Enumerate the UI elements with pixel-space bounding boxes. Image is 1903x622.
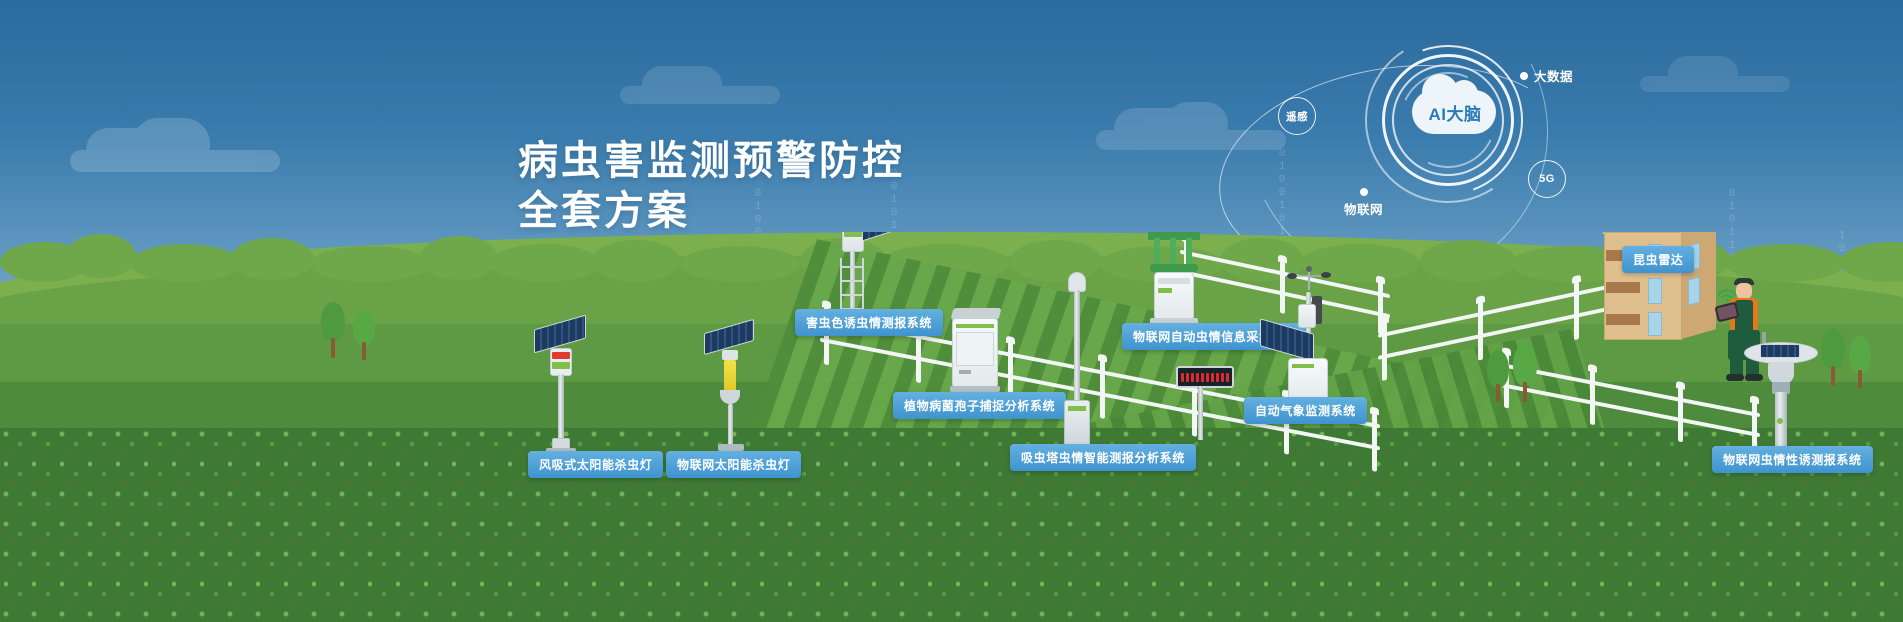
node-big-data-label: 大数据 bbox=[1534, 66, 1573, 85]
device-suction-tower bbox=[1058, 272, 1098, 462]
device-iot-sex-lure-unit bbox=[1744, 332, 1822, 462]
pest-monitoring-banner: 01001010011010 0100101101001 01001011010… bbox=[0, 0, 1903, 622]
wifi-signal-icon bbox=[1714, 280, 1740, 302]
label-weather-station[interactable]: 自动气象监测系统 bbox=[1244, 397, 1367, 424]
device-spore-capture bbox=[946, 308, 1008, 394]
led-display-board bbox=[1176, 366, 1234, 388]
node-iot[interactable]: 物联网 bbox=[1344, 188, 1383, 218]
label-iot-solar-lamp[interactable]: 物联网太阳能杀虫灯 bbox=[666, 451, 801, 478]
device-wind-solar-lamp bbox=[530, 322, 592, 458]
badge-remote-sensing[interactable]: 遥感 bbox=[1278, 97, 1316, 135]
led-board-pole bbox=[1198, 386, 1203, 440]
lamp-tube-icon bbox=[724, 360, 736, 392]
device-weather-station bbox=[1272, 270, 1350, 416]
tree-6 bbox=[1848, 336, 1872, 388]
headline-block: 病虫害监测预警防控 全套方案 bbox=[518, 136, 905, 236]
anemometer-icon bbox=[1286, 266, 1332, 292]
headline-line-1: 病虫害监测预警防控 bbox=[518, 136, 905, 186]
device-iot-solar-lamp bbox=[700, 326, 762, 458]
ground-scene: 昆虫雷达 bbox=[0, 232, 1903, 622]
label-spore-capture[interactable]: 植物病菌孢子捕捉分析系统 bbox=[893, 392, 1066, 419]
ai-brain-label: AI大脑 bbox=[1412, 94, 1498, 130]
tree-1 bbox=[320, 302, 346, 358]
node-dot-icon bbox=[1360, 188, 1368, 196]
label-iot-sex-lure[interactable]: 物联网虫情性诱测报系统 bbox=[1712, 446, 1873, 473]
label-wind-solar-lamp[interactable]: 风吸式太阳能杀虫灯 bbox=[528, 451, 663, 478]
tree-5 bbox=[1820, 328, 1846, 386]
node-dot-icon bbox=[1520, 72, 1528, 80]
node-big-data[interactable]: 大数据 bbox=[1520, 66, 1573, 85]
tree-2 bbox=[352, 310, 376, 360]
tree-3 bbox=[1486, 350, 1510, 402]
tree-4 bbox=[1512, 344, 1538, 402]
ai-hub: AI大脑 遥感 5G 大数据 物联网 bbox=[1368, 42, 1568, 222]
label-pest-color-lure[interactable]: 害虫色诱虫情测报系统 bbox=[795, 309, 943, 336]
headline-line-2: 全套方案 bbox=[518, 186, 905, 236]
badge-5g[interactable]: 5G bbox=[1528, 160, 1566, 198]
label-suction-tower[interactable]: 吸虫塔虫情智能测报分析系统 bbox=[1010, 444, 1196, 471]
label-insect-radar[interactable]: 昆虫雷达 bbox=[1622, 246, 1694, 273]
node-iot-label: 物联网 bbox=[1344, 199, 1383, 218]
